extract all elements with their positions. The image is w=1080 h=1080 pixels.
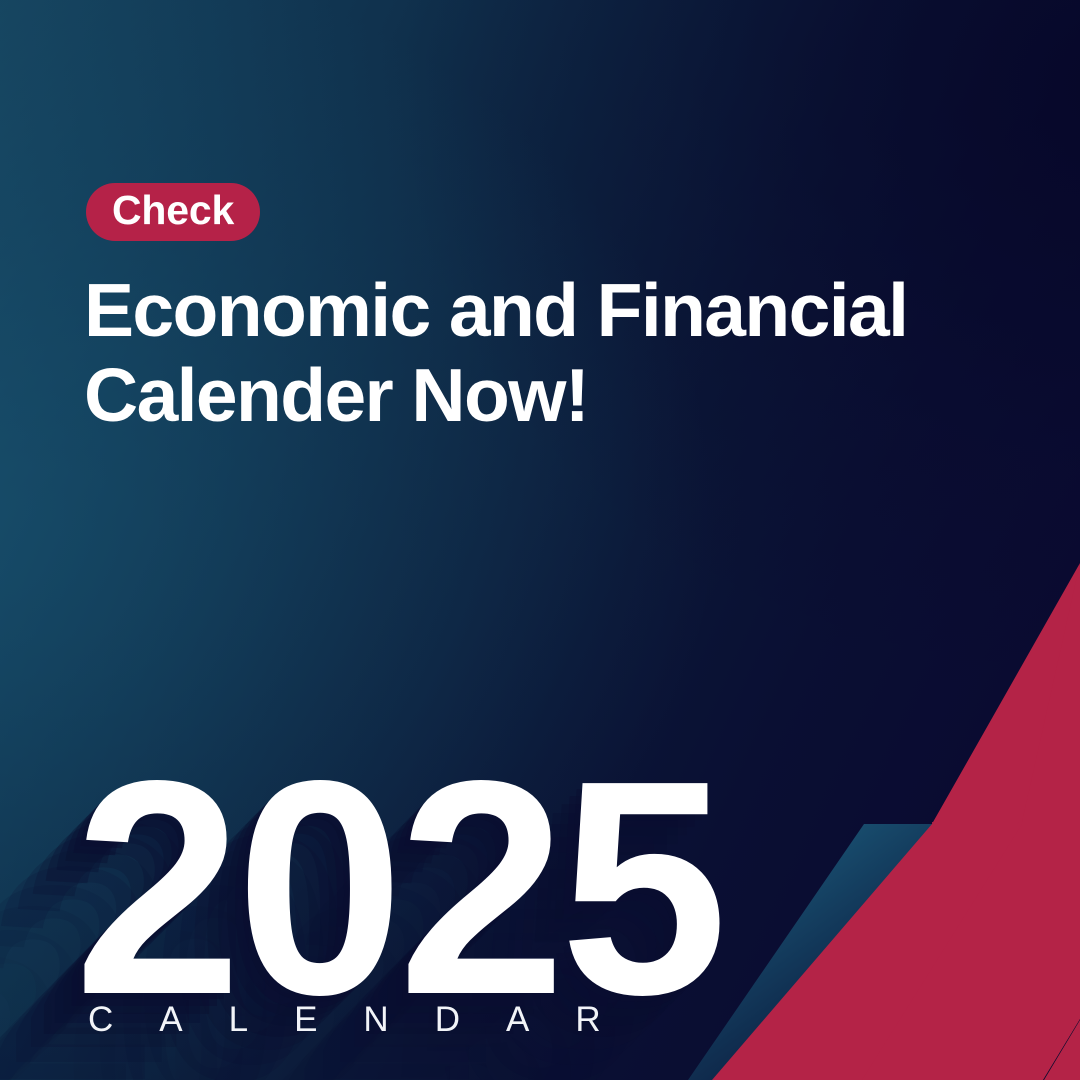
check-badge[interactable]: Check bbox=[86, 183, 260, 241]
headline-line-1: Economic and Financial bbox=[84, 274, 984, 346]
calendar-wordmark: CALENDAR bbox=[88, 1002, 647, 1037]
year-2025: 2025 bbox=[74, 735, 722, 1040]
year-block: 2025 bbox=[74, 735, 834, 995]
page-title: Economic and Financial Calender Now! bbox=[84, 274, 984, 431]
poster-canvas: Check Economic and Financial Calender No… bbox=[0, 0, 1080, 1080]
headline-line-2: Calender Now! bbox=[84, 359, 984, 431]
